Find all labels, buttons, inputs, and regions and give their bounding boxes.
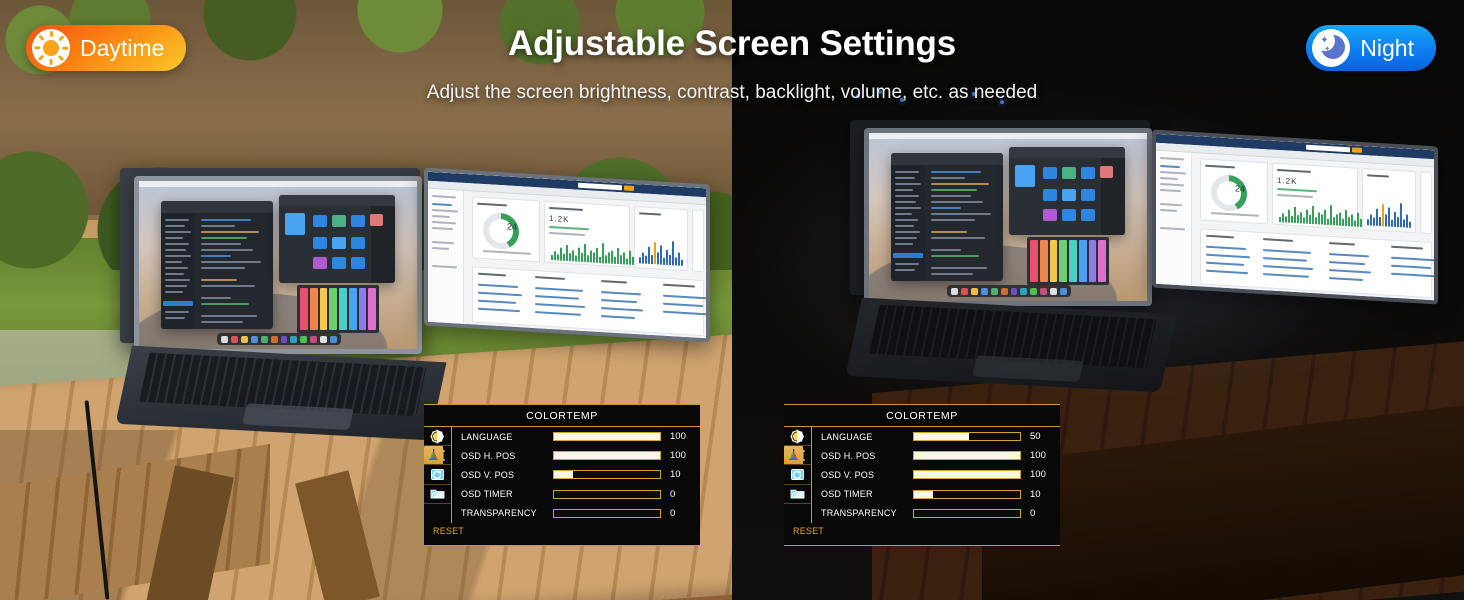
osd-row-value: 0 [661, 489, 691, 500]
osd-row-value: 100 [661, 431, 691, 442]
osd-row-value: 10 [661, 469, 691, 480]
analytics-dashboard: 24 1.2K [428, 172, 706, 339]
reset-icon[interactable] [424, 465, 451, 484]
dashboard-sidebar [1156, 151, 1192, 286]
osd-row-label: OSD V. POS [461, 470, 553, 480]
osd-title-left: COLORTEMP [424, 405, 700, 427]
menubar [869, 133, 1147, 139]
daytime-badge: Daytime [26, 25, 186, 71]
osd-slider-fill [914, 491, 933, 498]
osd-row-value: 100 [1021, 450, 1051, 461]
list-card [692, 209, 704, 272]
osd-row-label: TRANSPARENCY [821, 508, 913, 518]
osd-reset-right[interactable]: RESET [784, 523, 1060, 539]
bar-chart-card [1362, 168, 1416, 233]
monitor-bezel: 24 1.2K [424, 168, 710, 343]
monitor-bezel: 24 1.2K [1152, 130, 1438, 305]
osd-slider[interactable] [913, 451, 1021, 460]
laptop-lid [864, 128, 1152, 306]
window-titlebar [161, 201, 273, 213]
osd-row-value: 100 [661, 450, 691, 461]
night-badge: ✦ ✦ Night [1306, 25, 1436, 71]
osd-row-value: 100 [1021, 469, 1051, 480]
osd-rows-right: LANGUAGE50OSD H. POS100OSD V. POS100OSD … [812, 427, 1060, 523]
osd-row-value: 0 [1021, 508, 1051, 519]
window-titlebar [279, 195, 395, 206]
osd-row[interactable]: LANGUAGE100 [452, 427, 700, 446]
osd-row[interactable]: OSD TIMER0 [452, 485, 700, 504]
reset-icon[interactable] [784, 465, 811, 484]
osd-row-label: OSD TIMER [461, 489, 553, 499]
osd-icon-column-right[interactable]: OSD [784, 427, 812, 523]
code-editor-window [891, 153, 1003, 281]
page-subtitle: Adjust the screen brightness, contrast, … [0, 82, 1464, 104]
osd-slider[interactable] [553, 490, 661, 499]
window-titlebar [1009, 147, 1125, 158]
osd-row-value: 0 [661, 508, 691, 519]
laptop-screen [869, 133, 1147, 301]
laptop-keyboard-base [115, 346, 446, 441]
daytime-badge-label: Daytime [80, 37, 164, 60]
osd-slider[interactable] [553, 470, 661, 479]
analytics-dashboard: 24 1.2K [1156, 134, 1434, 301]
brightness-contrast-icon[interactable] [424, 427, 451, 446]
osd-row-value: 10 [1021, 489, 1051, 500]
data-table-card [472, 266, 704, 336]
menubar [139, 181, 417, 187]
mixer-window [297, 285, 379, 333]
osd-slider-fill [914, 452, 1020, 459]
selected-file-row [163, 301, 193, 306]
osd-slider[interactable] [553, 509, 661, 518]
file-manager-window [279, 195, 395, 283]
trackpad[interactable] [973, 356, 1084, 382]
osd-row[interactable]: LANGUAGE50 [812, 427, 1060, 446]
osd-row[interactable]: OSD TIMER10 [812, 485, 1060, 504]
laptop-keyboard-base [845, 298, 1176, 393]
osd-menu-right[interactable]: COLORTEMP [784, 404, 1060, 546]
dock[interactable] [947, 285, 1071, 297]
osd-row[interactable]: OSD H. POS100 [452, 446, 700, 465]
osd-row-label: TRANSPARENCY [461, 508, 553, 518]
brightness-contrast-icon[interactable] [784, 427, 811, 446]
misc-icon[interactable] [424, 485, 451, 504]
monitor-screen: 24 1.2K [428, 172, 706, 339]
osd-slider[interactable] [553, 451, 661, 460]
osd-reset-left[interactable]: RESET [424, 523, 700, 539]
trackpad[interactable] [243, 404, 354, 430]
night-badge-label: Night [1360, 37, 1414, 60]
traffic-card: 1.2K [1272, 163, 1358, 230]
osd-row-label: OSD V. POS [821, 470, 913, 480]
selected-file-row [893, 253, 923, 258]
traffic-card: 1.2K [544, 201, 630, 268]
osd-slider-fill [914, 433, 969, 440]
osd-title-right: COLORTEMP [784, 405, 1060, 427]
osd-slider[interactable] [913, 509, 1021, 518]
osd-icon-column-left[interactable]: OSD [424, 427, 452, 523]
window-titlebar [891, 153, 1003, 165]
osd-row-label: OSD H. POS [821, 451, 913, 461]
osd-row[interactable]: OSD H. POS100 [812, 446, 1060, 465]
page-title: Adjustable Screen Settings [0, 24, 1464, 64]
moon-icon: ✦ ✦ [1312, 29, 1350, 67]
dashboard-sidebar [428, 189, 464, 324]
osd-slider-fill [554, 433, 660, 440]
mixer-window [1027, 237, 1109, 285]
laptop-lid [134, 176, 422, 354]
osd-slider[interactable] [913, 490, 1021, 499]
file-manager-window [1009, 147, 1125, 235]
osd-slider[interactable] [913, 432, 1021, 441]
osd-slider[interactable] [553, 432, 661, 441]
osd-row-label: LANGUAGE [821, 432, 913, 442]
gauge-card: 24 [472, 196, 540, 262]
misc-icon[interactable] [784, 485, 811, 504]
sun-icon [32, 29, 70, 67]
gauge-card: 24 [1200, 158, 1268, 224]
osd-menu-left[interactable]: COLORTEMP [424, 404, 700, 546]
osd-row-value: 50 [1021, 431, 1051, 442]
color-icon[interactable] [784, 446, 803, 465]
osd-row-label: LANGUAGE [461, 432, 553, 442]
data-table-card [1200, 228, 1432, 298]
bar-chart-card [634, 206, 688, 271]
laptop-screen [139, 181, 417, 349]
dock[interactable] [217, 333, 341, 345]
osd-row[interactable]: OSD V. POS10 [452, 465, 700, 484]
osd-row[interactable]: TRANSPARENCY0 [452, 504, 700, 523]
osd-row[interactable]: TRANSPARENCY0 [812, 504, 1060, 523]
osd-slider-fill [914, 471, 1020, 478]
osd-slider[interactable] [913, 470, 1021, 479]
osd-row-label: OSD H. POS [461, 451, 553, 461]
promo-banner: 24 1.2K [0, 0, 1464, 600]
color-icon[interactable] [424, 446, 443, 465]
code-editor-window [161, 201, 273, 329]
osd-row-label: OSD TIMER [821, 489, 913, 499]
osd-rows-left: LANGUAGE100OSD H. POS100OSD V. POS10OSD … [452, 427, 700, 523]
osd-slider-fill [554, 452, 660, 459]
list-card [1420, 171, 1432, 234]
monitor-screen: 24 1.2K [1156, 134, 1434, 301]
osd-slider-fill [554, 471, 573, 478]
osd-row[interactable]: OSD V. POS100 [812, 465, 1060, 484]
